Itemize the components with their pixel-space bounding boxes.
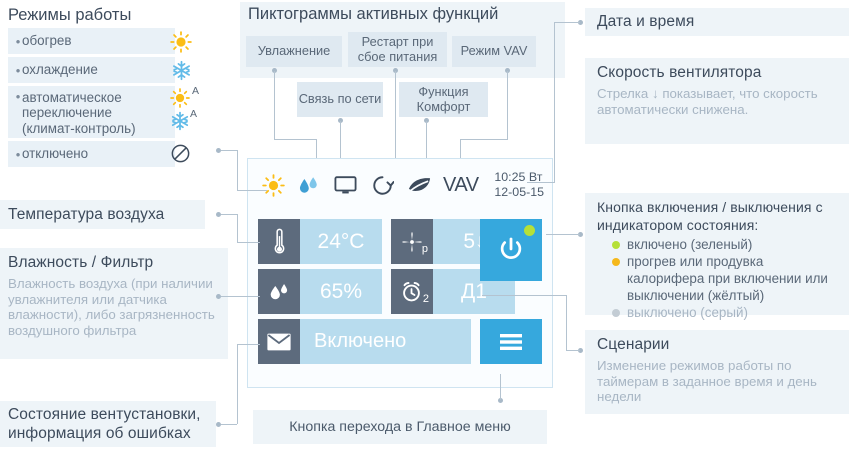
- band-power: Кнопка включения / выключения с индикато…: [585, 193, 849, 315]
- band-scenarios: Сценарии Изменение режимов работы по тай…: [585, 330, 849, 414]
- band-datetime: Дата и время: [585, 8, 849, 36]
- unit-status-value: Включено: [300, 319, 471, 364]
- state-dot-yellow: [612, 258, 620, 266]
- list-item: включено (зеленый): [611, 236, 843, 253]
- tile-unit-status[interactable]: Включено: [258, 319, 471, 364]
- display-status-bar: VAV 10:25 Вт 12-05-15: [248, 159, 552, 211]
- pictograms-title: Пиктограммы активных функций: [248, 5, 498, 24]
- mode-label: отключено: [22, 146, 88, 161]
- list-item: прогрев или продувка калорифера при вклю…: [611, 253, 843, 304]
- connector-line: [507, 71, 508, 139]
- vav-icon: VAV: [443, 174, 479, 197]
- power-button[interactable]: [480, 219, 542, 281]
- list-bullet: •: [8, 35, 22, 48]
- list-bullet: •: [8, 64, 22, 77]
- prohibited-icon: [170, 143, 191, 164]
- display-clock: 10:25 Вт 12-05-15: [494, 170, 544, 199]
- connector-line: [460, 139, 508, 140]
- connector-line: [274, 71, 275, 139]
- annotation-temperature-title: Температура воздуха: [8, 206, 164, 224]
- auto-badge-label: A: [190, 108, 197, 120]
- power-state-list: включено (зеленый) прогрев или продувка …: [611, 236, 843, 321]
- annotation-mainmenu-label: Кнопка перехода в Главное меню: [289, 419, 510, 435]
- annotation-unitstate-title: Состояние вентустановки, информация об о…: [8, 405, 216, 443]
- band-unit-state: Состояние вентустановки, информация об о…: [0, 401, 216, 447]
- connector-line: [221, 150, 237, 151]
- mode-row-auto: • автоматическое переключение (климат-ко…: [8, 86, 175, 138]
- chip-humidification: Увлажнение: [246, 36, 342, 67]
- mode-label: автоматическое переключение (климат-конт…: [22, 90, 162, 136]
- connector-line: [221, 214, 237, 215]
- state-dot-green: [612, 241, 620, 249]
- mode-label: охлаждение: [22, 62, 98, 77]
- list-bullet: •: [8, 90, 22, 103]
- chip-comfort-function: Функция Комфорт: [399, 82, 488, 117]
- sun-icon: [170, 88, 190, 108]
- annotation-fanspeed-title: Скорость вентилятора: [597, 64, 761, 82]
- connector-line: [500, 374, 501, 400]
- band-main-menu: Кнопка перехода в Главное меню: [253, 410, 547, 444]
- sun-icon: [170, 31, 192, 53]
- chip-network-link: Связь по сети: [297, 82, 383, 117]
- temperature-value: 24°C: [300, 219, 382, 264]
- humidity-value: 65%: [300, 269, 382, 314]
- power-icon: [497, 236, 525, 264]
- mode-label: обогрев: [22, 33, 71, 48]
- connector-line: [566, 295, 567, 350]
- humidity-drops-icon: [297, 174, 321, 197]
- connector-line: [274, 139, 317, 140]
- annotation-fanspeed-text: Стрелка ↓ показывает, что скорость автом…: [597, 86, 837, 117]
- state-label: включено (зеленый): [627, 237, 752, 252]
- connector-line: [546, 234, 580, 235]
- connector-line: [554, 22, 555, 182]
- band-fanspeed: Скорость вентилятора Стрелка ↓ показывае…: [585, 58, 849, 144]
- modes-title: Режимы работы: [8, 6, 131, 25]
- state-dot-gray: [612, 309, 620, 317]
- thermometer-icon: [258, 219, 300, 264]
- annotation-datetime-title: Дата и время: [597, 13, 694, 31]
- annotation-power-title: Кнопка включения / выключения с индикато…: [597, 199, 843, 234]
- connector-line: [237, 242, 260, 243]
- connector-line: [237, 214, 238, 242]
- chip-vav-mode: Режим VAV: [452, 36, 536, 67]
- snowflake-icon: [171, 60, 192, 81]
- connector-line: [221, 296, 260, 297]
- display-date: 12-05-15: [494, 185, 544, 200]
- leaf-icon: [407, 174, 432, 196]
- mode-row-off: • отключено: [8, 141, 175, 167]
- connector-line: [482, 295, 567, 296]
- connector-line: [237, 150, 238, 190]
- auto-badge-label: A: [192, 85, 199, 97]
- restart-icon: [371, 174, 394, 197]
- band-temperature: Температура воздуха: [0, 200, 205, 229]
- mode-row-heating: • обогрев: [8, 28, 175, 54]
- mode-row-cooling: • охлаждение: [8, 57, 175, 83]
- annotation-scenarios-title: Сценарии: [597, 336, 669, 354]
- envelope-icon: [258, 319, 300, 364]
- monitor-icon: [333, 174, 358, 196]
- tile-temperature[interactable]: 24°C: [258, 219, 382, 264]
- connector-line: [527, 182, 555, 183]
- band-humidity: Влажность / Фильтр Влажность воздуха (пр…: [0, 248, 228, 359]
- sun-icon: [262, 174, 285, 197]
- status-led-indicator: [524, 225, 535, 236]
- drop-icon: [258, 269, 300, 314]
- fan-icon-subscript: p: [422, 243, 428, 255]
- hamburger-menu-icon: [497, 331, 525, 353]
- annotation-humidity-title: Влажность / Фильтр: [8, 254, 153, 272]
- tile-humidity[interactable]: 65%: [258, 269, 382, 314]
- fan-icon: p: [391, 219, 433, 264]
- connector-line: [237, 344, 260, 345]
- state-label: выключено (серый): [627, 305, 748, 320]
- list-bullet: •: [8, 148, 22, 161]
- connector-line: [237, 344, 238, 424]
- annotation-scenarios-text: Изменение режимов работы по таймерам в з…: [597, 358, 837, 405]
- alarm-clock-icon: 2: [391, 269, 433, 314]
- list-item: выключено (серый): [611, 304, 843, 321]
- connector-line: [237, 190, 267, 191]
- fan-speed-number: 5: [463, 230, 475, 254]
- controller-display: VAV 10:25 Вт 12-05-15 24°C: [247, 158, 553, 388]
- annotation-humidity-text: Влажность воздуха (при наличии увлажните…: [8, 276, 226, 338]
- main-menu-button[interactable]: [480, 319, 542, 364]
- snowflake-icon: [170, 111, 190, 131]
- chip-power-restart: Рестарт при сбое питания: [348, 32, 447, 67]
- connector-line: [566, 350, 580, 351]
- connector-line: [221, 424, 237, 425]
- state-label: прогрев или продувка калорифера при вклю…: [627, 254, 828, 303]
- timer-icon-subscript: 2: [423, 293, 429, 305]
- connector-line: [554, 22, 580, 23]
